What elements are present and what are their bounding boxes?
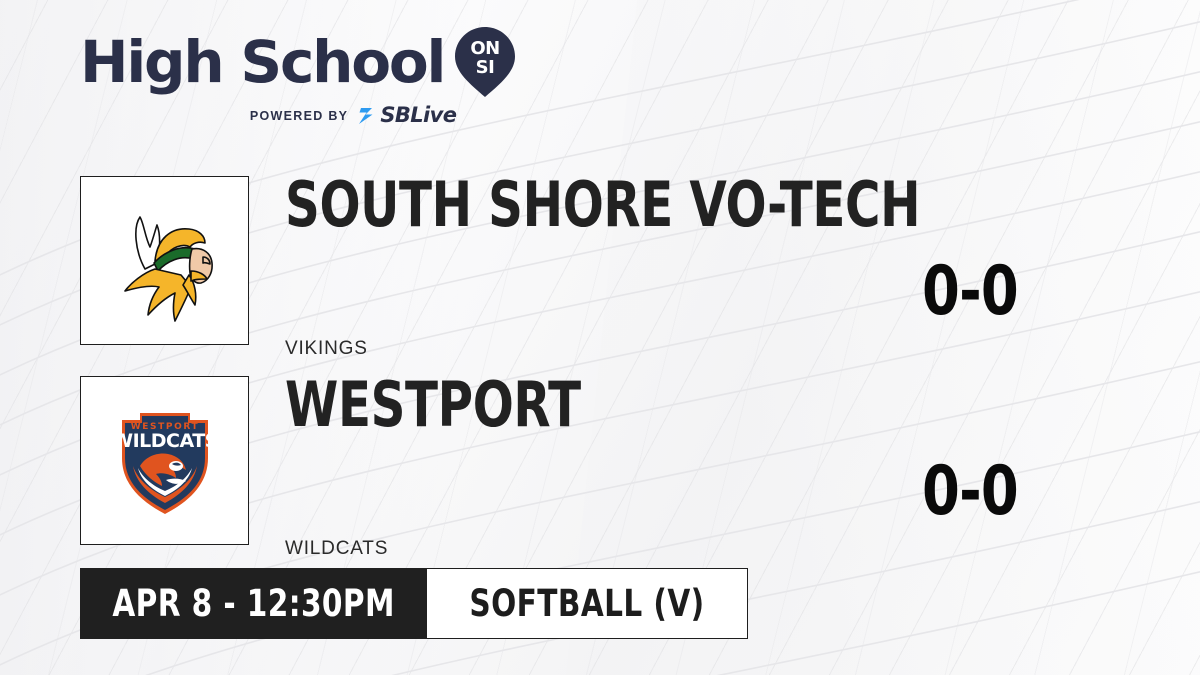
sblive-logo: SBLive xyxy=(357,105,456,126)
matchup-graphic: High School ON SI POWERED BY SBLive xyxy=(0,0,1200,675)
team-record-2: 0-0 xyxy=(890,458,1050,526)
team-record-1: 0-0 xyxy=(890,258,1050,326)
svg-text:SI: SI xyxy=(476,57,495,78)
team-mascot-1: VIKINGS xyxy=(285,338,368,360)
team-logo-box-2: WESTPORT WILDCATS xyxy=(80,376,249,545)
powered-by-label: POWERED BY xyxy=(250,109,348,123)
lightning-bolt-icon xyxy=(357,106,377,126)
game-datetime-label: APR 8 - 12:30PM xyxy=(112,585,395,622)
team-name-2: WESTPORT xyxy=(285,374,581,436)
game-datetime-chip: APR 8 - 12:30PM xyxy=(80,568,427,639)
team-name-1: SOUTH SHORE VO-TECH xyxy=(285,174,920,236)
brand-wordmark: High School ON SI xyxy=(80,26,516,98)
team-mascot-2: WILDCATS xyxy=(285,538,388,560)
westport-wildcats-crest-icon: WESTPORT WILDCATS xyxy=(100,396,230,526)
game-sport-chip: SOFTBALL (V) xyxy=(427,568,748,639)
game-info-bar: APR 8 - 12:30PM SOFTBALL (V) xyxy=(80,568,748,639)
brand-header: High School ON SI POWERED BY SBLive xyxy=(80,26,516,126)
powered-by-row: POWERED BY SBLive xyxy=(80,105,516,126)
svg-text:WILDCATS: WILDCATS xyxy=(112,430,218,452)
game-sport-label: SOFTBALL (V) xyxy=(469,585,704,622)
team-logo-box-1 xyxy=(80,176,249,345)
on-si-pin-icon: ON SI xyxy=(454,26,516,98)
sblive-wordmark: SBLive xyxy=(380,105,456,126)
vikings-head-logo-icon xyxy=(95,191,235,331)
svg-text:ON: ON xyxy=(471,38,500,59)
brand-title: High School xyxy=(80,33,444,91)
